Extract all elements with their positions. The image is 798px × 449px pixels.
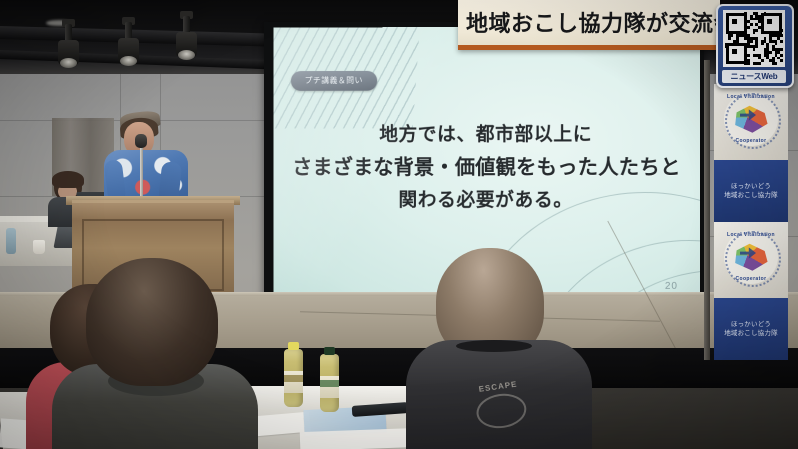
banner-logo-bottom: Local Vitalization Cooperator: [714, 222, 788, 298]
logo-text-top: Local Vitalization: [724, 94, 778, 100]
tea-bottle: [284, 349, 303, 407]
slide-line-3: 関わる必要がある。: [273, 184, 700, 217]
shirt-print-text: ESCAPE: [467, 378, 536, 438]
logo-text-bottom: Cooperator: [724, 138, 778, 144]
local-vitalization-logo-icon: Local Vitalization Cooperator: [724, 92, 778, 146]
bottle-cap: [324, 347, 335, 355]
banner-caption-line2: 地域おこし協力隊: [716, 191, 786, 200]
broadcast-screenshot: プチ講義＆問い 地方では、都市部以上に さまざまな背景・価値観をもった人たちと …: [0, 0, 798, 449]
microphone-icon: [135, 134, 147, 148]
local-vitalization-logo-icon: Local Vitalization Cooperator: [724, 230, 778, 284]
tea-bottle: [320, 354, 339, 412]
audience-member-foreground: [52, 258, 248, 449]
qr-code-icon: [723, 10, 785, 67]
banner-caption-line1: ほっかいどう: [716, 320, 786, 329]
banner-logo-top: Local Vitalization Cooperator: [714, 84, 788, 160]
slide-page-number: 20: [665, 281, 678, 292]
logo-text-top: Local Vitalization: [724, 232, 778, 238]
slide-body-text: 地方では、都市部以上に さまざまな背景・価値観をもった人たちと 関わる必要がある…: [273, 118, 700, 217]
handout-paper: [300, 428, 421, 449]
slide-section-pill: プチ講義＆問い: [291, 71, 377, 91]
qr-code-label: ニュースWeb: [722, 70, 786, 83]
news-headline-text: 地域おこし協力隊が交流会: [466, 6, 736, 38]
bottle-cap: [288, 342, 299, 350]
slide-line-1: 地方では、都市部以上に: [273, 118, 700, 151]
slide-line-2: さまざまな背景・価値観をもった人たちと: [273, 151, 700, 184]
paper-cup: [33, 240, 45, 254]
banner-pole: [704, 60, 710, 360]
qr-code-badge[interactable]: ニュースWeb: [716, 4, 794, 88]
speaker-at-podium: [104, 116, 188, 208]
banner-caption-line1: ほっかいどう: [716, 182, 786, 191]
logo-text-bottom: Cooperator: [724, 276, 778, 282]
banner-caption-line2: 地域おこし協力隊: [716, 329, 786, 338]
banner-caption-bottom: ほっかいどう 地域おこし協力隊: [714, 298, 788, 360]
water-bottle: [6, 228, 16, 254]
banner-caption-top: ほっかいどう 地域おこし協力隊: [714, 160, 788, 222]
news-headline-banner: 地域おこし協力隊が交流会: [458, 0, 720, 50]
